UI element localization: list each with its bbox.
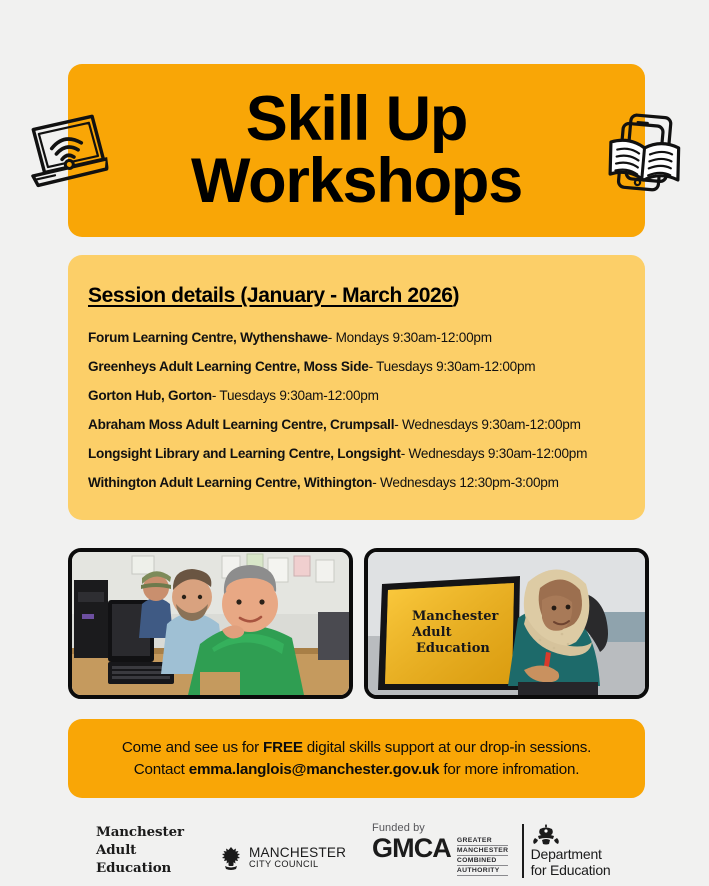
dfe-divider [522, 824, 524, 878]
session-time: - Tuesdays 9:30am-12:00pm [212, 389, 379, 403]
svg-text:Education: Education [416, 641, 490, 656]
royal-crown-crest-icon [531, 824, 561, 845]
gmca-expanded-words: GREATER MANCHESTER COMBINED AUTHORITY [457, 835, 508, 878]
session-item: Abraham Moss Adult Learning Centre, Crum… [88, 410, 633, 439]
contact-line-2-prefix: Contact [134, 761, 189, 778]
page-title: Skill Up Workshops [181, 89, 532, 211]
session-item: Greenheys Adult Learning Centre, Moss Si… [88, 352, 633, 381]
manchester-coat-of-arms-icon [218, 846, 244, 870]
gmca-word-combined: COMBINED [457, 857, 508, 866]
session-venue: Withington Adult Learning Centre, Within… [88, 476, 372, 490]
session-item: Withington Adult Learning Centre, Within… [88, 468, 633, 497]
logo-department-for-education: Department for Education [522, 824, 611, 878]
svg-text:Adult: Adult [411, 625, 452, 640]
mcc-label-top: MANCHESTER [249, 846, 346, 860]
logo-manchester-adult-education: Manchester Adult Education [96, 824, 184, 877]
session-details-heading-tail: ) [453, 284, 460, 307]
poster-canvas: Skill Up Workshops [0, 0, 709, 886]
session-item: Longsight Library and Learning Centre, L… [88, 439, 633, 468]
logo-gmca: Funded by GMCA GREATER MANCHESTER COMBIN… [372, 822, 508, 878]
session-time: - Wednesdays 9:30am-12:00pm [394, 418, 580, 432]
contact-email[interactable]: emma.langlois@manchester.gov.uk [189, 761, 440, 778]
session-venue: Abraham Moss Adult Learning Centre, Crum… [88, 418, 394, 432]
session-details-heading: Session details (January - March 2026) [88, 284, 459, 308]
logo-row: Manchester Adult Education MANCHESTER CI… [0, 810, 709, 886]
gmca-word-greater: GREATER [457, 837, 508, 846]
session-item: Gorton Hub, Gorton - Tuesdays 9:30am-12:… [88, 381, 633, 410]
gmca-acronym: GMCA [372, 835, 451, 862]
contact-line-1-prefix: Come and see us for [122, 739, 263, 756]
photo-learner-at-monitor: Manchester Adult Education [364, 548, 649, 699]
session-details-panel: Session details (January - March 2026) F… [68, 255, 645, 520]
session-venue: Greenheys Adult Learning Centre, Moss Si… [88, 360, 369, 374]
photo-classroom-computers [68, 548, 353, 699]
contact-line-2: Contact emma.langlois@manchester.gov.uk … [134, 761, 579, 778]
session-time: - Wednesdays 12:30pm-3:00pm [372, 476, 558, 490]
logo-manchester-city-council: MANCHESTER CITY COUNCIL [218, 846, 346, 870]
contact-line-1-suffix: digital skills support at our drop-in se… [303, 739, 591, 756]
contact-free-emphasis: FREE [263, 739, 303, 756]
book-tablet-icon [600, 109, 689, 200]
dfe-label: Department for Education [531, 847, 611, 878]
sessions-list: Forum Learning Centre, Wythenshawe - Mon… [88, 323, 633, 497]
svg-text:Manchester: Manchester [412, 609, 498, 624]
header-banner: Skill Up Workshops [68, 64, 645, 237]
session-item: Forum Learning Centre, Wythenshawe - Mon… [88, 323, 633, 352]
laptop-wifi-icon [17, 105, 110, 195]
gmca-word-authority: AUTHORITY [457, 867, 508, 876]
session-details-heading-underlined: Session details (January - March 2026 [88, 284, 453, 307]
session-time: - Mondays 9:30am-12:00pm [328, 331, 492, 345]
session-venue: Gorton Hub, Gorton [88, 389, 212, 403]
session-venue: Longsight Library and Learning Centre, L… [88, 447, 401, 461]
mcc-label-bottom: CITY COUNCIL [249, 860, 346, 870]
contact-banner: Come and see us for FREE digital skills … [68, 719, 645, 798]
gmca-word-manchester: MANCHESTER [457, 847, 508, 856]
session-time: - Wednesdays 9:30am-12:00pm [401, 447, 587, 461]
contact-line-1: Come and see us for FREE digital skills … [122, 739, 591, 756]
contact-line-2-suffix: for more infromation. [439, 761, 579, 778]
session-time: - Tuesdays 9:30am-12:00pm [369, 360, 536, 374]
session-venue: Forum Learning Centre, Wythenshawe [88, 331, 328, 345]
